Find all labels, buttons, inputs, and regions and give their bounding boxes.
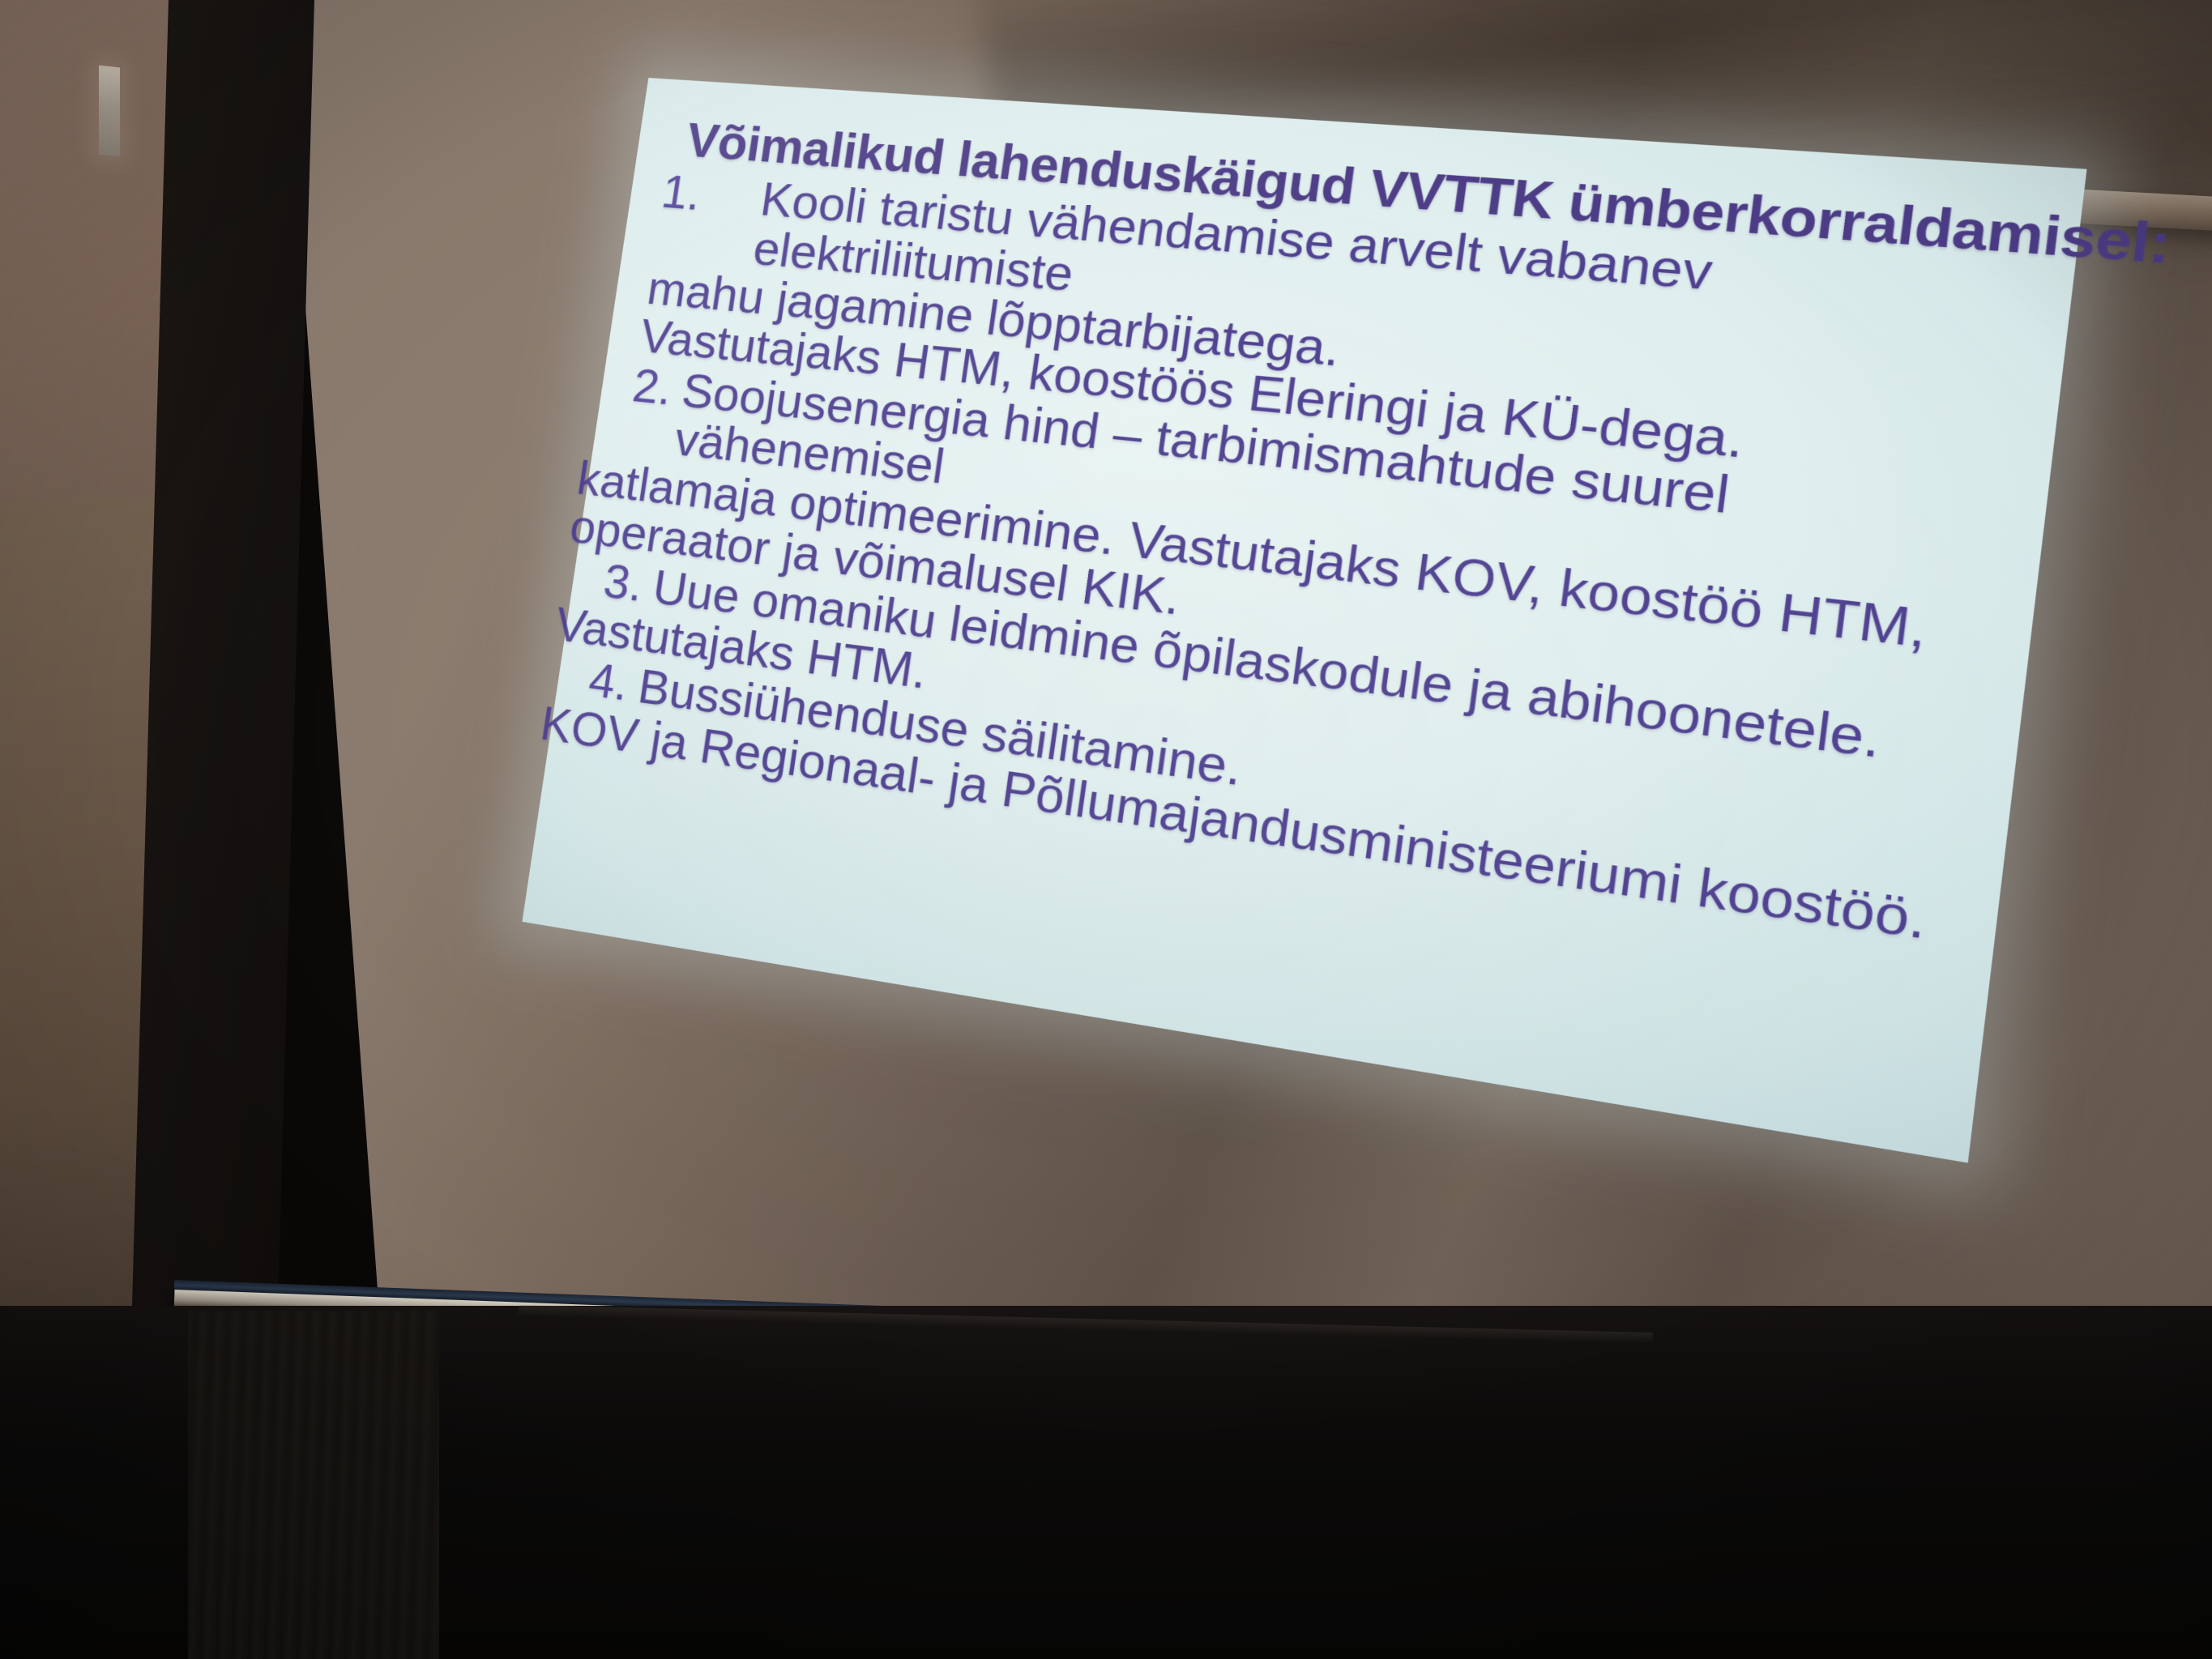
slide-bullet-list: 1. Kooli taristu vähendamise arvelt vaba… xyxy=(579,168,2026,951)
bullet-number: 2. xyxy=(630,360,686,414)
wall-sconce-light xyxy=(99,66,120,157)
bullet-number: 1. xyxy=(659,168,765,224)
stage-curtain-panel xyxy=(188,1311,439,1659)
auditorium-photo-scene: Võimalikud lahenduskäigud VVTTK ümberkor… xyxy=(0,0,2212,1659)
